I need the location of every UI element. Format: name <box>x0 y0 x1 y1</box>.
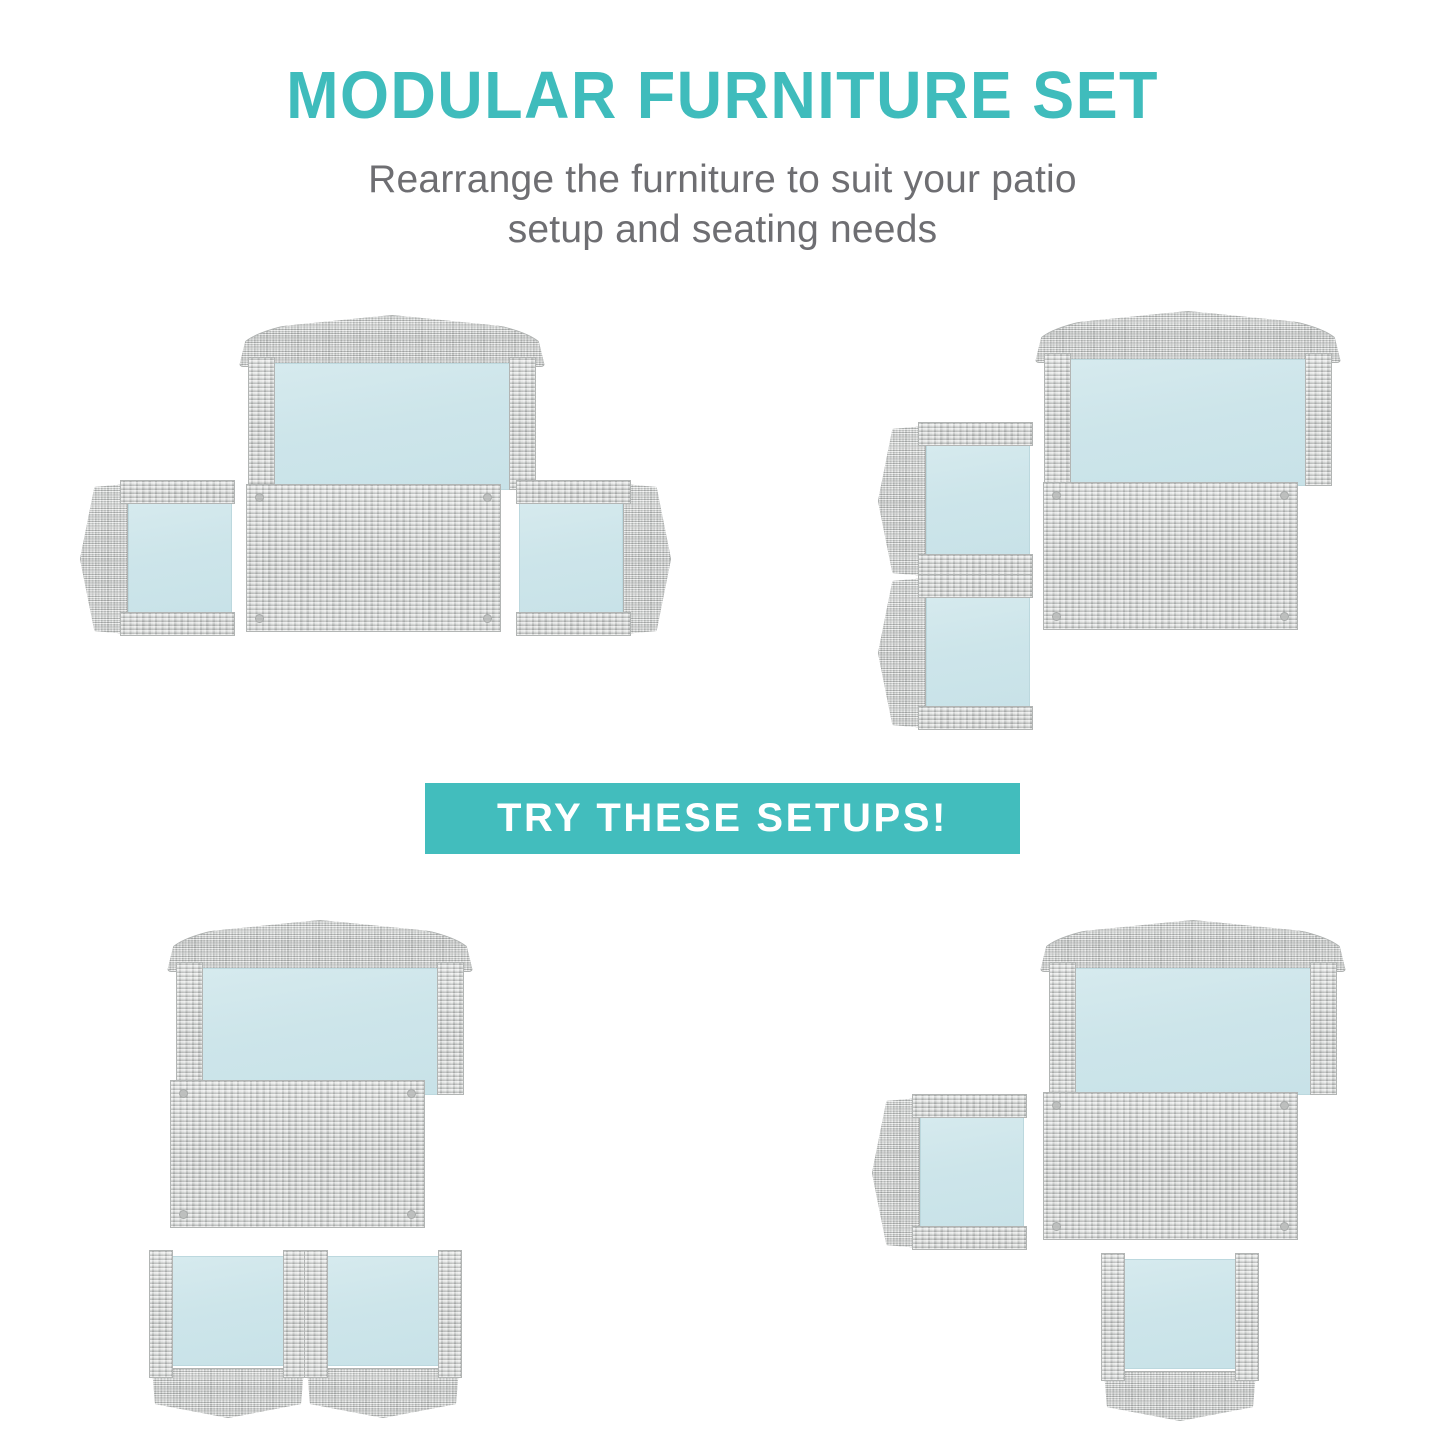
chair-armrest-left <box>1101 1253 1125 1381</box>
arrangement-2-coffee-table <box>1043 482 1298 630</box>
chair-armrest-bottom <box>918 706 1033 730</box>
page-subtitle-line-1: Rearrange the furniture to suit your pat… <box>0 155 1445 205</box>
sofa-armrest-right <box>437 962 464 1095</box>
arrangement-3-chair-left <box>148 1250 308 1418</box>
arrangement-2-sofa <box>1043 311 1333 486</box>
arrangement-4-coffee-table <box>1043 1092 1298 1240</box>
arrangement-4-chair-left <box>872 1092 1027 1252</box>
sofa-seat-cushion <box>273 363 511 490</box>
page-subtitle: Rearrange the furniture to suit your pat… <box>0 129 1445 255</box>
header: MODULAR FURNITURE SET Rearrange the furn… <box>0 0 1445 255</box>
table-screw-icon <box>483 614 492 623</box>
chair-armrest-bottom <box>912 1226 1027 1250</box>
arrangement-3-chair-right <box>303 1250 463 1418</box>
arrangement-1-chair-left <box>80 478 235 638</box>
sofa-seat-cushion <box>1074 968 1312 1095</box>
coffee-table-top <box>1043 482 1298 630</box>
chair-armrest-top <box>912 1094 1027 1118</box>
page-title: MODULAR FURNITURE SET <box>43 0 1401 129</box>
table-screw-icon <box>1052 491 1061 500</box>
chair-seat-cushion <box>172 1256 284 1366</box>
chair-seat-cushion <box>128 502 232 614</box>
chair-backrest <box>307 1368 459 1418</box>
arrangement-2-chair-upper <box>878 420 1033 580</box>
arrangement-4-chair-bottom <box>1100 1253 1260 1421</box>
coffee-table-top <box>1043 1092 1298 1240</box>
chair-armrest-top <box>120 480 235 504</box>
chair-armrest-right <box>1235 1253 1259 1381</box>
try-these-setups-banner: TRY THESE SETUPS! <box>425 783 1020 854</box>
sofa-armrest-right <box>509 357 536 490</box>
chair-seat-cushion <box>926 596 1030 708</box>
chair-backrest <box>152 1368 304 1418</box>
arrangement-2-chair-lower <box>878 572 1033 732</box>
arrangement-3-coffee-table <box>170 1080 425 1228</box>
sofa-armrest-right <box>1305 353 1332 486</box>
table-screw-icon <box>1052 1101 1061 1110</box>
chair-armrest-top <box>918 574 1033 598</box>
table-screw-icon <box>1052 1222 1061 1231</box>
arrangement-1-chair-right <box>516 478 671 638</box>
sofa-backrest <box>167 920 473 972</box>
chair-backrest <box>1104 1371 1256 1421</box>
table-screw-icon <box>483 493 492 502</box>
table-screw-icon <box>255 493 264 502</box>
chair-seat-cushion <box>327 1256 439 1366</box>
table-screw-icon <box>255 614 264 623</box>
chair-armrest-bottom <box>516 612 631 636</box>
table-screw-icon <box>179 1089 188 1098</box>
arrangement-3-sofa <box>175 920 465 1095</box>
arrangement-4-sofa <box>1048 920 1338 1095</box>
table-screw-icon <box>179 1210 188 1219</box>
table-screw-icon <box>1052 612 1061 621</box>
sofa-armrest-left <box>1049 962 1076 1095</box>
chair-armrest-right <box>438 1250 462 1378</box>
sofa-armrest-left <box>248 357 275 490</box>
chair-seat-cushion <box>1124 1259 1236 1369</box>
sofa-backrest <box>239 315 545 367</box>
chair-armrest-left <box>149 1250 173 1378</box>
try-these-setups-label: TRY THESE SETUPS! <box>497 796 948 841</box>
table-screw-icon <box>1280 612 1289 621</box>
chair-armrest-bottom <box>120 612 235 636</box>
table-screw-icon <box>407 1210 416 1219</box>
chair-seat-cushion <box>920 1116 1024 1228</box>
sofa-armrest-left <box>1044 353 1071 486</box>
chair-seat-cushion <box>926 444 1030 556</box>
table-screw-icon <box>1280 1101 1289 1110</box>
chair-armrest-left <box>304 1250 328 1378</box>
chair-armrest-top <box>918 422 1033 446</box>
table-screw-icon <box>1280 1222 1289 1231</box>
sofa-seat-cushion <box>1069 359 1307 486</box>
sofa-armrest-left <box>176 962 203 1095</box>
arrangement-1-sofa <box>247 315 537 490</box>
page-subtitle-line-2: setup and seating needs <box>0 205 1445 255</box>
sofa-seat-cushion <box>201 968 439 1095</box>
coffee-table-top <box>246 484 501 632</box>
table-screw-icon <box>1280 491 1289 500</box>
chair-armrest-top <box>516 480 631 504</box>
arrangement-1-coffee-table <box>246 484 501 632</box>
sofa-armrest-right <box>1310 962 1337 1095</box>
sofa-backrest <box>1035 311 1341 363</box>
table-screw-icon <box>407 1089 416 1098</box>
sofa-backrest <box>1040 920 1346 972</box>
chair-seat-cushion <box>519 502 623 614</box>
coffee-table-top <box>170 1080 425 1228</box>
